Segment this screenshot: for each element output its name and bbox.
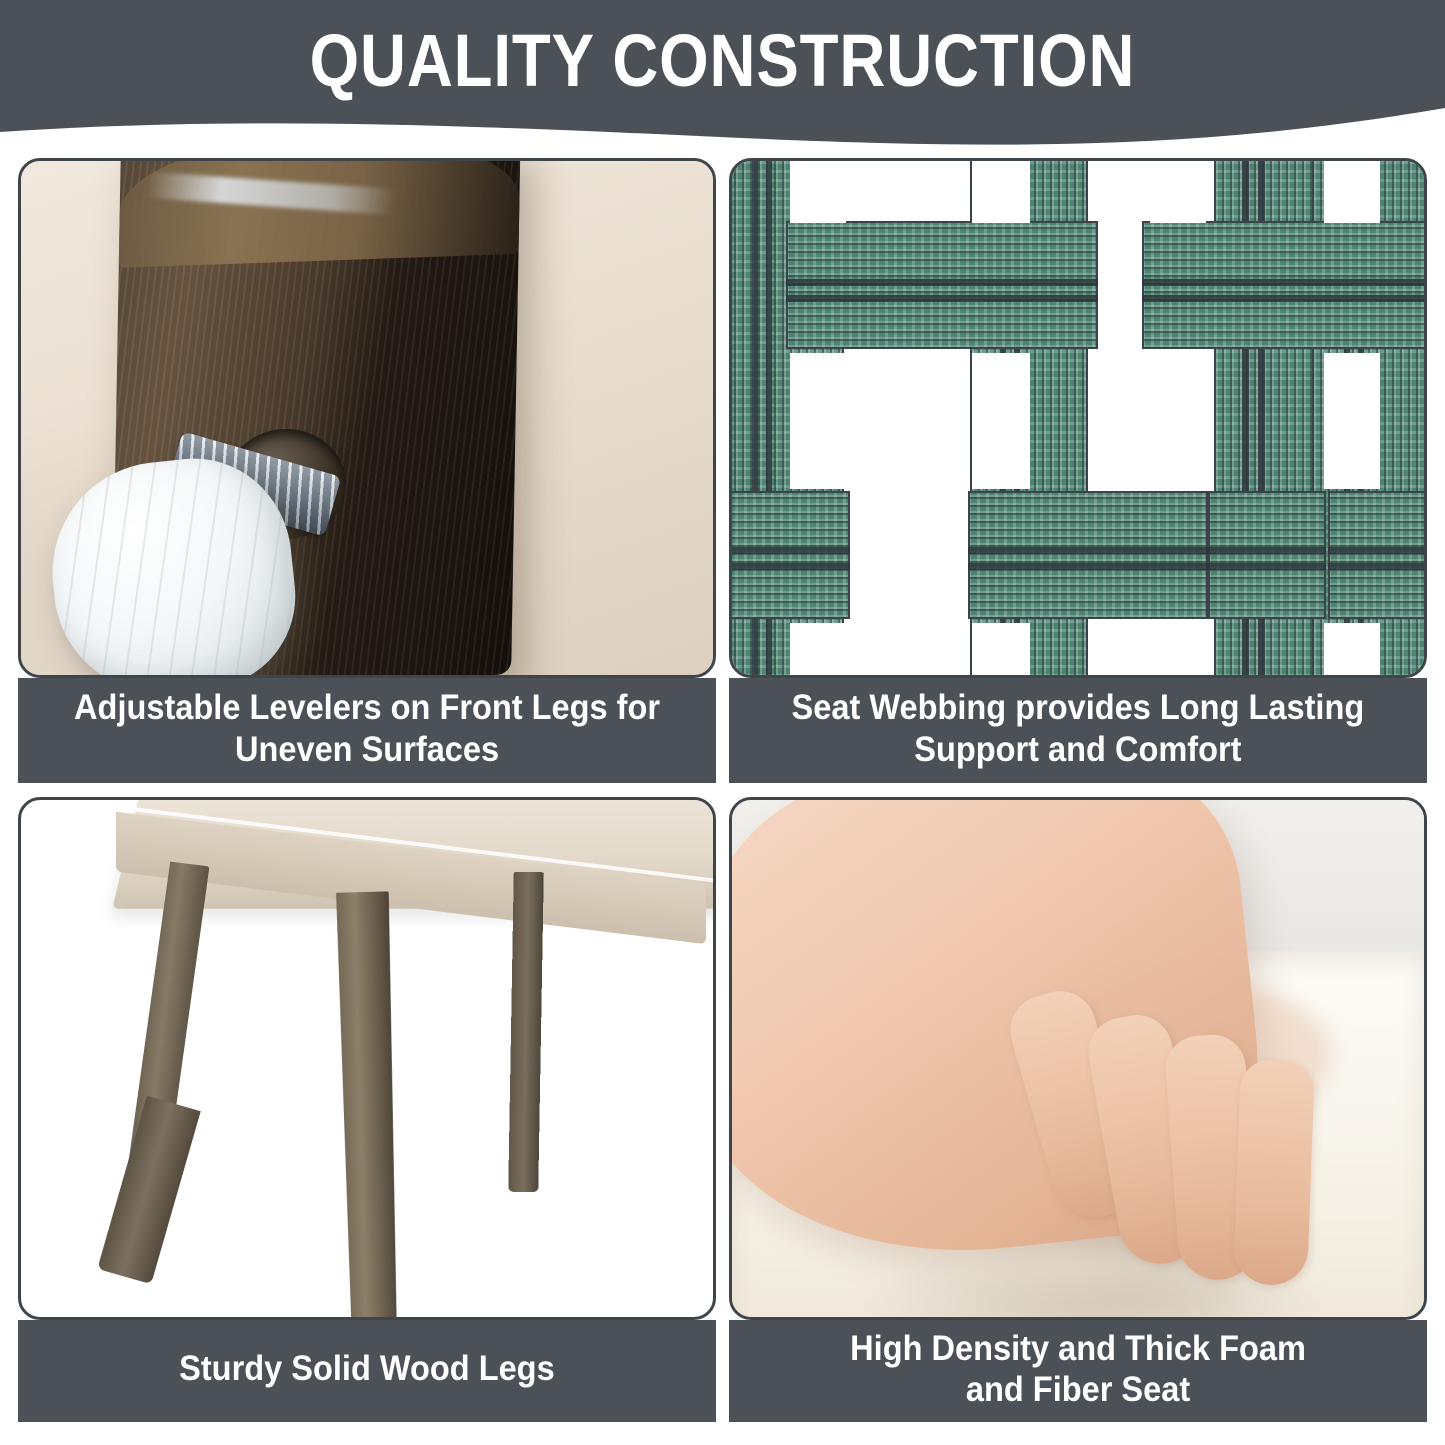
- webbing-gap: [972, 353, 1030, 489]
- webbing-strap-horizontal: [1142, 221, 1427, 349]
- caption-wood-legs-line1: Sturdy Solid Wood Legs: [179, 1348, 555, 1389]
- caption-webbing: Seat Webbing provides Long Lasting Suppo…: [729, 678, 1427, 783]
- feature-cell-webbing: Seat Webbing provides Long Lasting Suppo…: [729, 158, 1427, 783]
- webbing-strap-horizontal: [968, 491, 1208, 619]
- webbing-gap: [790, 158, 846, 223]
- webbing-gap: [972, 623, 1030, 678]
- webbing-strap-horizontal: [786, 221, 1098, 349]
- feature-cell-levelers: Adjustable Levelers on Front Legs for Un…: [18, 158, 716, 783]
- header-banner: QUALITY CONSTRUCTION: [0, 0, 1445, 150]
- caption-webbing-line1: Seat Webbing provides Long Lasting: [792, 687, 1365, 728]
- foam-photo: [729, 797, 1427, 1320]
- caption-foam-line2: and Fiber Seat: [850, 1369, 1306, 1410]
- webbing-gap: [1150, 158, 1206, 223]
- webbing-strap-horizontal: [729, 491, 850, 619]
- woven-webbing-pattern: [732, 161, 1424, 675]
- feature-cell-foam: High Density and Thick Foam and Fiber Se…: [729, 797, 1427, 1422]
- caption-levelers-line1: Adjustable Levelers on Front Legs for: [74, 687, 660, 728]
- webbing-gap: [1324, 158, 1380, 223]
- webbing-strap-horizontal: [1208, 491, 1326, 619]
- chair-leg-center: [333, 891, 406, 1320]
- caption-levelers: Adjustable Levelers on Front Legs for Un…: [18, 678, 716, 783]
- wood-legs-photo: [18, 797, 716, 1320]
- caption-wood-legs: Sturdy Solid Wood Legs: [18, 1320, 716, 1422]
- feature-grid: Adjustable Levelers on Front Legs for Un…: [18, 158, 1427, 1422]
- webbing-strap-horizontal: [1328, 491, 1427, 619]
- webbing-photo: [729, 158, 1427, 678]
- chair-leg-left-lower: [97, 1096, 200, 1284]
- chair-leg-right: [508, 872, 544, 1192]
- webbing-gap: [1324, 353, 1380, 489]
- webbing-gap: [1324, 623, 1380, 678]
- caption-levelers-line2: Uneven Surfaces: [74, 729, 660, 770]
- webbing-gap: [790, 623, 846, 678]
- finger-pinky: [1233, 1059, 1315, 1286]
- leveler-photo: [18, 158, 716, 678]
- caption-webbing-line2: Support and Comfort: [792, 729, 1365, 770]
- webbing-gap: [790, 353, 846, 489]
- webbing-gap: [1150, 623, 1206, 678]
- feature-cell-wood-legs: Sturdy Solid Wood Legs: [18, 797, 716, 1422]
- caption-foam-line1: High Density and Thick Foam: [850, 1328, 1306, 1369]
- webbing-gap: [1150, 353, 1206, 489]
- webbing-gap: [972, 158, 1030, 223]
- caption-foam: High Density and Thick Foam and Fiber Se…: [729, 1320, 1427, 1422]
- page-title: QUALITY CONSTRUCTION: [101, 24, 1344, 98]
